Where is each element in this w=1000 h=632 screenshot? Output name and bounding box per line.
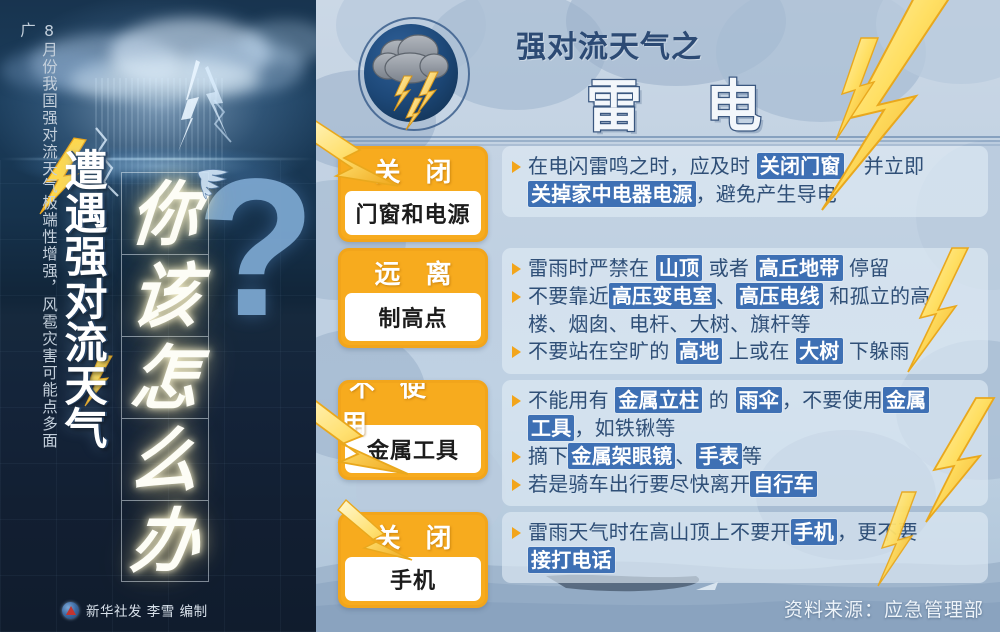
bullet-line: 雷雨天气时在高山顶上不要开手机，更不要 bbox=[512, 519, 974, 546]
advice-rows: 关 闭 门窗和电源 在电闪雷鸣之时，应及时 关闭门窗，并立即 关掉家中电器电源，… bbox=[316, 146, 1000, 614]
headline-glyph: 你 bbox=[128, 179, 202, 249]
advice-badge[interactable]: 关 闭 手机 bbox=[338, 512, 488, 608]
headline-glyph: 怎 bbox=[128, 343, 202, 413]
bullet-line-continued: 关掉家中电器电源，避免产生导电 bbox=[512, 181, 974, 208]
advice-row: 关 闭 手机 雷雨天气时在高山顶上不要开手机，更不要 接打电话 bbox=[316, 512, 1000, 608]
bullet-line: 不能用有 金属立柱 的 雨伞，不要使用金属 bbox=[512, 387, 974, 414]
advice-row: 不 使 用 金属工具 不能用有 金属立柱 的 雨伞，不要使用金属 工具，如铁锹等… bbox=[316, 380, 1000, 506]
advice-badge[interactable]: 远 离 制高点 bbox=[338, 248, 488, 348]
advice-badge-title: 关 闭 bbox=[341, 515, 485, 557]
triangle-bullet-icon bbox=[512, 527, 521, 539]
advice-badge-subtitle: 制高点 bbox=[345, 293, 481, 341]
xinhua-logo-icon bbox=[62, 602, 79, 619]
source-note: 资料来源：应急管理部 bbox=[784, 595, 984, 622]
header: 强对流天气之 雷 电 bbox=[316, 0, 1000, 148]
bullet-text: 摘下金属架眼镜、手表等 bbox=[528, 443, 762, 470]
lead-caption: 8月份我国强对流天气极端性增强，风雹灾害可能点多面广 bbox=[16, 22, 60, 452]
bullet-text: 不要站在空旷的 高地 上或在 大树 下躲雨 bbox=[528, 338, 910, 365]
headline-glyph: 么 bbox=[128, 425, 202, 495]
bullet-text: 关掉家中电器电源，避免产生导电 bbox=[528, 181, 837, 208]
bullet-text: 若是骑车出行要尽快离开自行车 bbox=[528, 471, 817, 498]
bullet-text: 不能用有 金属立柱 的 雨伞，不要使用金属 bbox=[528, 387, 929, 414]
tornado-icon bbox=[196, 166, 230, 200]
triangle-bullet-icon bbox=[512, 161, 521, 173]
headline-glyph-box: 么 bbox=[121, 418, 209, 500]
bullet-text: 雷雨天气时在高山顶上不要开手机，更不要 bbox=[528, 519, 918, 546]
bullet-text: 在电闪雷鸣之时，应及时 关闭门窗，并立即 bbox=[528, 153, 924, 180]
triangle-bullet-icon bbox=[512, 263, 521, 275]
triangle-bullet-icon bbox=[512, 395, 521, 407]
header-title: 雷 电 bbox=[586, 62, 784, 143]
bullet-text: 不要靠近高压变电室、高压电线 和孤立的高 bbox=[528, 283, 930, 310]
bullet-text: 楼、烟囱、电杆、大树、旗杆等 bbox=[528, 311, 811, 338]
advice-badge-title: 远 离 bbox=[341, 251, 485, 293]
advice-badge-title: 不 使 用 bbox=[341, 383, 485, 425]
header-divider bbox=[316, 136, 1000, 144]
header-subtitle: 强对流天气之 bbox=[516, 22, 702, 66]
advice-badge-title: 关 闭 bbox=[341, 149, 485, 191]
bullet-line-continued: 工具，如铁锹等 bbox=[512, 415, 974, 442]
bullet-line-continued: 接打电话 bbox=[512, 547, 974, 574]
thundercloud-icon bbox=[356, 14, 472, 132]
bullet-text: 雷雨时严禁在 山顶 或者 高丘地带 停留 bbox=[528, 255, 889, 282]
headline-glyph-box: 办 bbox=[121, 500, 209, 582]
advice-badge-subtitle: 手机 bbox=[345, 557, 481, 601]
advice-text-panel: 雷雨时严禁在 山顶 或者 高丘地带 停留 不要靠近高压变电室、高压电线 和孤立的… bbox=[502, 248, 988, 374]
bullet-line: 若是骑车出行要尽快离开自行车 bbox=[512, 471, 974, 498]
bullet-line: 不要站在空旷的 高地 上或在 大树 下躲雨 bbox=[512, 338, 974, 365]
advice-text-panel: 在电闪雷鸣之时，应及时 关闭门窗，并立即 关掉家中电器电源，避免产生导电 bbox=[502, 146, 988, 217]
credit-text: 新华社发 李雪 编制 bbox=[86, 600, 208, 620]
triangle-bullet-icon bbox=[512, 451, 521, 463]
triangle-bullet-icon bbox=[512, 346, 521, 358]
advice-badge-subtitle: 门窗和电源 bbox=[345, 191, 481, 235]
advice-row: 远 离 制高点 雷雨时严禁在 山顶 或者 高丘地带 停留 不要靠近高压变电室、高… bbox=[316, 248, 1000, 374]
triangle-bullet-icon bbox=[512, 479, 521, 491]
headline-subtitle: 遭遇强对流天气 bbox=[60, 148, 103, 548]
advice-badge[interactable]: 关 闭 门窗和电源 bbox=[338, 146, 488, 242]
credit-line: 新华社发 李雪 编制 bbox=[62, 600, 208, 620]
advice-text-panel: 不能用有 金属立柱 的 雨伞，不要使用金属 工具，如铁锹等 摘下金属架眼镜、手表… bbox=[502, 380, 988, 506]
advice-row: 关 闭 门窗和电源 在电闪雷鸣之时，应及时 关闭门窗，并立即 关掉家中电器电源，… bbox=[316, 146, 1000, 242]
triangle-bullet-icon bbox=[512, 291, 521, 303]
advice-text-panel: 雷雨天气时在高山顶上不要开手机，更不要 接打电话 bbox=[502, 512, 988, 583]
headline-glyph: 该 bbox=[128, 261, 202, 331]
bullet-line-continued: 楼、烟囱、电杆、大树、旗杆等 bbox=[512, 311, 974, 338]
advice-badge[interactable]: 不 使 用 金属工具 bbox=[338, 380, 488, 480]
bullet-line: 不要靠近高压变电室、高压电线 和孤立的高 bbox=[512, 283, 974, 310]
bullet-text: 工具，如铁锹等 bbox=[528, 415, 675, 442]
bullet-line: 摘下金属架眼镜、手表等 bbox=[512, 443, 974, 470]
headline-glyph-box: 怎 bbox=[121, 336, 209, 418]
bullet-text: 接打电话 bbox=[528, 547, 615, 574]
right-content-panel: 强对流天气之 雷 电 关 闭 门窗和电源 在电闪雷鸣之时，应及时 关闭门窗，并立… bbox=[316, 0, 1000, 632]
headline-glyph-box: 该 bbox=[121, 254, 209, 336]
left-hero-panel: 8月份我国强对流天气极端性增强，风雹灾害可能点多面广 ? 遭遇强对流天气 你 该… bbox=[0, 0, 316, 632]
headline-glyph: 办 bbox=[128, 506, 202, 576]
infographic-poster: 8月份我国强对流天气极端性增强，风雹灾害可能点多面广 ? 遭遇强对流天气 你 该… bbox=[0, 0, 1000, 632]
bullet-line: 雷雨时严禁在 山顶 或者 高丘地带 停留 bbox=[512, 255, 974, 282]
headline-main: 你 该 怎 么 办 bbox=[121, 172, 209, 582]
bullet-line: 在电闪雷鸣之时，应及时 关闭门窗，并立即 bbox=[512, 153, 974, 180]
